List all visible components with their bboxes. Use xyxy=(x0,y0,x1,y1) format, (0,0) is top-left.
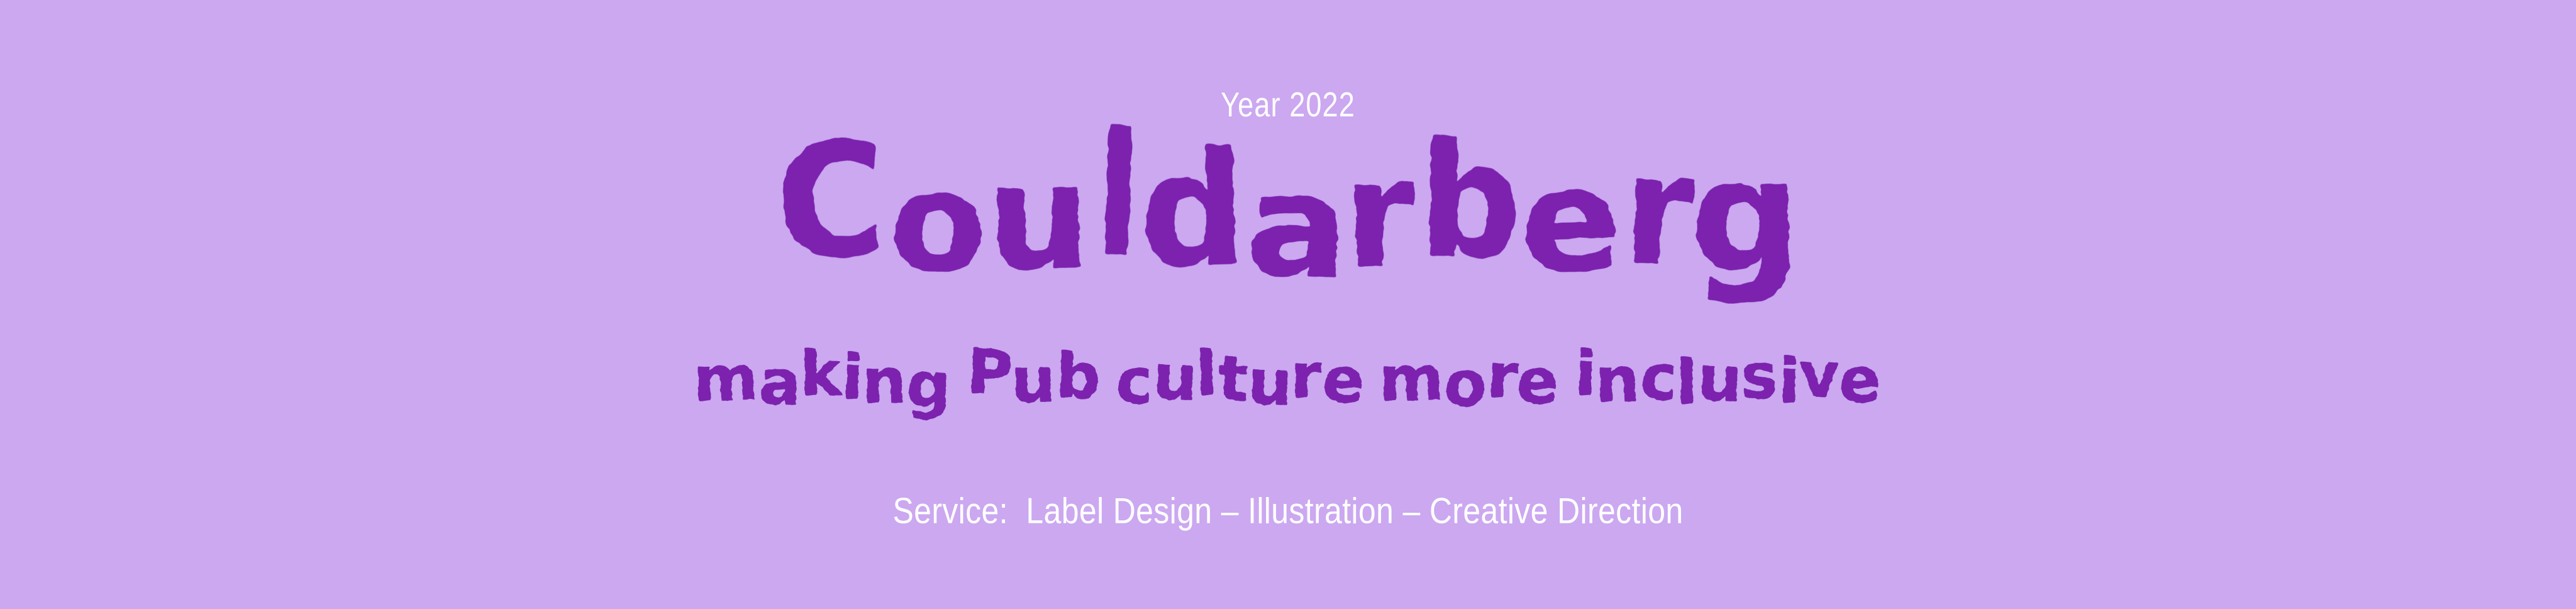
tagline-letter: s xyxy=(1740,345,1779,408)
brand-wordmark-text: Couldarberg xyxy=(778,129,1797,277)
tagline-letter: l xyxy=(1195,343,1218,405)
project-header-banner: Year 2022 Couldarberg making Pub culture… xyxy=(0,0,2576,609)
tagline-letter: e xyxy=(1516,350,1559,413)
paint-speckle xyxy=(1745,250,1752,256)
brand-letter: b xyxy=(1418,122,1522,281)
tagline-letter: m xyxy=(1379,348,1445,411)
tagline-letter: u xyxy=(1247,352,1292,415)
tagline-letter: v xyxy=(1799,345,1840,406)
brand-wordmark: Couldarberg xyxy=(0,129,2576,349)
brand-letter: C xyxy=(774,121,887,282)
brand-letter: g xyxy=(1689,138,1801,294)
tagline-letter: k xyxy=(799,343,841,405)
tagline-letter: r xyxy=(1291,346,1322,408)
tagline-letter: i xyxy=(841,347,864,409)
tagline-letter: r xyxy=(1486,345,1519,408)
tagline-letter: n xyxy=(1594,349,1640,412)
tagline-letter: o xyxy=(1444,353,1487,415)
tagline-letter: l xyxy=(1675,352,1697,415)
service-list: Service: Label Design – Illustration – C… xyxy=(52,492,2524,532)
brand-letter: d xyxy=(1138,131,1246,290)
tagline-letter: i xyxy=(1778,351,1800,413)
brand-tagline-text: making Pub culture more inclusive xyxy=(694,345,1881,406)
paint-speckle xyxy=(1726,250,1729,252)
brand-letter: u xyxy=(986,144,1090,291)
brand-letter: o xyxy=(888,154,987,293)
brand-letter: r xyxy=(1342,140,1416,289)
tagline-letter: e xyxy=(1321,349,1365,412)
tagline-letter: u xyxy=(1697,348,1743,411)
paint-speckle xyxy=(1733,260,1738,264)
brand-letter: a xyxy=(1243,154,1350,299)
tagline-letter: b xyxy=(1056,345,1101,408)
tagline-letter: u xyxy=(1011,349,1056,412)
year-label: Year 2022 xyxy=(103,87,2473,125)
tagline-letter: e xyxy=(1838,349,1882,412)
brand-tagline: making Pub culture more inclusive xyxy=(0,345,2576,433)
tagline-letter: m xyxy=(693,347,759,411)
tagline-letter: c xyxy=(1640,347,1677,410)
tagline-space xyxy=(1558,345,1575,406)
tagline-space xyxy=(1363,345,1380,406)
tagline-letter: a xyxy=(758,352,802,415)
tagline-letter: t xyxy=(1218,349,1248,411)
tagline-letter: P xyxy=(967,342,1014,405)
tagline-space xyxy=(1100,345,1116,406)
tagline-letter: n xyxy=(861,350,906,413)
brand-letter: e xyxy=(1518,149,1621,294)
tagline-letter: u xyxy=(1153,347,1199,410)
tagline-letter: g xyxy=(906,354,952,416)
brand-letter: l xyxy=(1094,111,1141,281)
brand-letter: r xyxy=(1622,134,1695,288)
tagline-space xyxy=(950,345,967,406)
tagline-letter: c xyxy=(1116,351,1153,413)
